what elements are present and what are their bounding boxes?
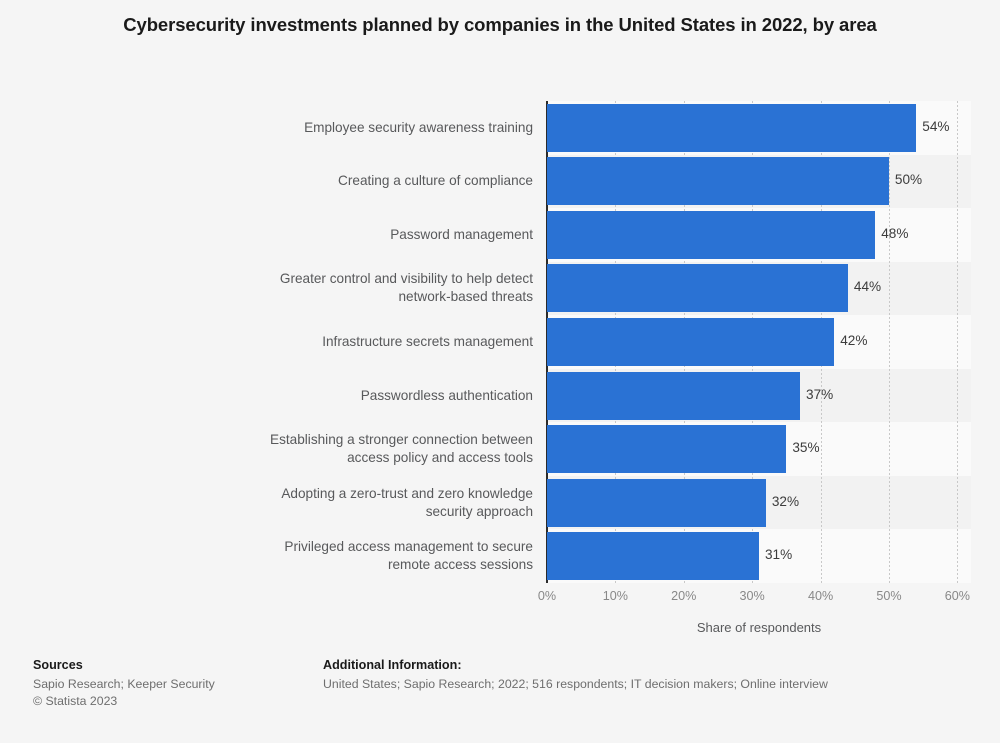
x-axis-title: Share of respondents [547,620,971,635]
chart-footer: Sources Sapio Research; Keeper Security … [0,652,1000,743]
bar[interactable] [547,318,834,366]
category-label-line: Privileged access management to secure [213,538,533,556]
category-label-line: remote access sessions [213,556,533,574]
category-label: Adopting a zero-trust and zero knowledge… [213,485,533,521]
x-tick-label: 60% [945,589,970,603]
sources-line-1: Sapio Research; Keeper Security [33,677,215,691]
bar-value-label: 48% [881,226,908,241]
category-label-line: Adopting a zero-trust and zero knowledge [213,485,533,503]
bar-value-label: 54% [922,119,949,134]
category-label: Creating a culture of compliance [213,172,533,190]
bar-value-label: 44% [854,279,881,294]
category-label-line: network-based threats [213,288,533,306]
bar[interactable] [547,479,766,527]
category-label: Establishing a stronger connection betwe… [213,431,533,467]
category-label-line: Employee security awareness training [213,119,533,137]
category-label-line: Passwordless authentication [213,387,533,405]
x-tick-label: 50% [876,589,901,603]
bar-value-label: 37% [806,387,833,402]
additional-information-line: United States; Sapio Research; 2022; 516… [323,677,828,691]
category-label: Employee security awareness training [213,119,533,137]
page-title: Cybersecurity investments planned by com… [70,10,930,39]
sources-heading: Sources [33,658,83,672]
bar[interactable] [547,211,875,259]
additional-information-heading: Additional Information: [323,658,462,672]
category-label-line: Greater control and visibility to help d… [213,270,533,288]
category-label-line: security approach [213,503,533,521]
bar-value-label: 42% [840,333,867,348]
bar[interactable] [547,264,848,312]
category-label: Infrastructure secrets management [213,333,533,351]
bar[interactable] [547,425,786,473]
bar-value-label: 32% [772,494,799,509]
bar-value-label: 50% [895,172,922,187]
category-label-line: Establishing a stronger connection betwe… [213,431,533,449]
bar[interactable] [547,157,889,205]
category-label-line: Infrastructure secrets management [213,333,533,351]
category-label-line: access policy and access tools [213,449,533,467]
bar-value-label: 35% [792,440,819,455]
category-axis-labels: Employee security awareness trainingCrea… [213,101,533,583]
category-label: Passwordless authentication [213,387,533,405]
bar-value-label: 31% [765,547,792,562]
bar[interactable] [547,532,759,580]
category-label: Greater control and visibility to help d… [213,270,533,306]
x-tick-label: 0% [538,589,556,603]
x-tick-label: 20% [671,589,696,603]
bar[interactable] [547,104,916,152]
bar[interactable] [547,372,800,420]
category-label: Privileged access management to securere… [213,538,533,574]
x-tick-label: 30% [740,589,765,603]
category-label-line: Password management [213,226,533,244]
category-label: Password management [213,226,533,244]
x-axis-ticks: 0%10%20%30%40%50%60% [547,589,971,609]
category-label-line: Creating a culture of compliance [213,172,533,190]
x-tick-label: 40% [808,589,833,603]
x-tick-label: 10% [603,589,628,603]
sources-line-2: © Statista 2023 [33,694,117,708]
